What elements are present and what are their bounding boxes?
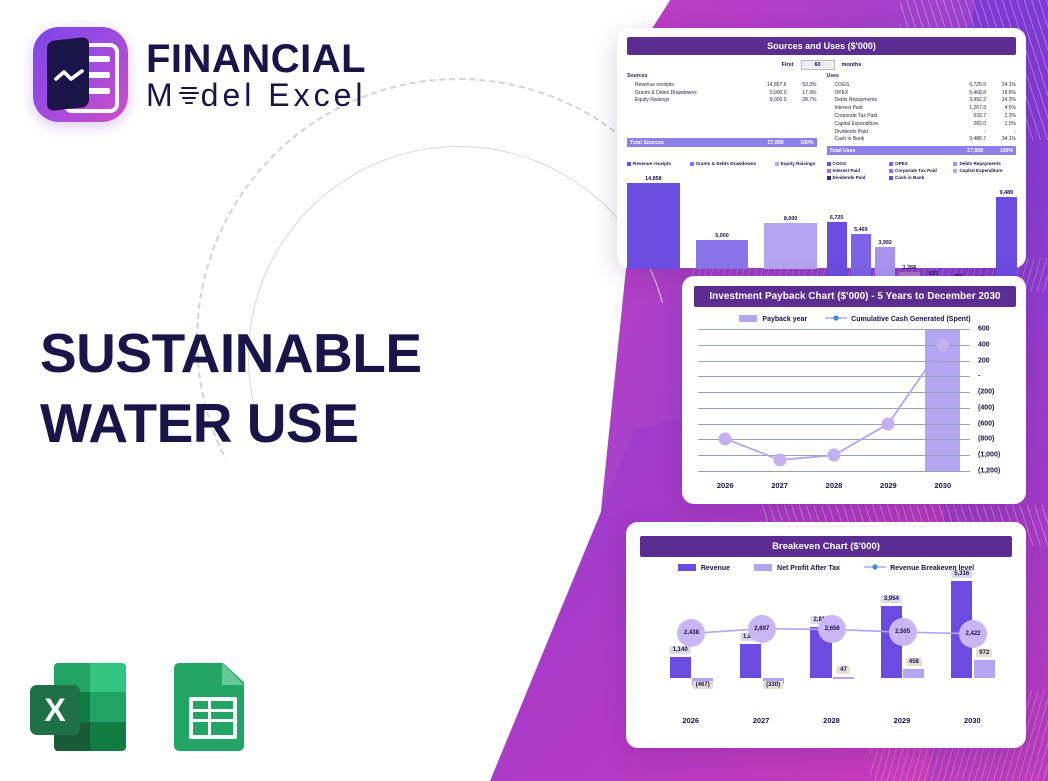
row-value: 632.7 bbox=[942, 113, 986, 119]
x-axis-label: 2029 bbox=[880, 481, 897, 490]
y-axis-tick: (400) bbox=[978, 404, 994, 411]
row-pct: 28.7% bbox=[787, 97, 817, 103]
data-point bbox=[773, 453, 786, 466]
x-axis-label: 2027 bbox=[753, 716, 770, 725]
legend-item-net-profit: Net Profit After Tax bbox=[754, 564, 840, 572]
total-label: Total Sources bbox=[627, 140, 740, 146]
bar bbox=[627, 183, 680, 269]
row-pct: 14.3% bbox=[986, 97, 1016, 103]
breakeven-point: 2,697 bbox=[748, 615, 776, 643]
row-value: 1,267.8 bbox=[942, 105, 986, 111]
table-row: Revenue receipts 14,857.6 53.3% bbox=[627, 81, 817, 89]
bar bbox=[696, 240, 749, 269]
table-row: Grants & Debts Drawdowns 5,000.0 17.9% bbox=[627, 89, 817, 97]
payback-plot-area: 600400200-(200)(400)(600)(800)(1,000)(1,… bbox=[698, 329, 970, 471]
total-value: 27,858 bbox=[939, 148, 983, 154]
sources-uses-title: Sources and Uses ($'000) bbox=[627, 37, 1016, 55]
app-format-icons: X bbox=[30, 663, 244, 751]
row-pct: 1.0% bbox=[986, 121, 1016, 127]
row-pct: - bbox=[986, 129, 1016, 135]
table-row: Capital Expenditure 282.0 1.0% bbox=[827, 120, 1017, 128]
breakeven-point: 2,438 bbox=[677, 619, 705, 647]
breakeven-plot-area: 1,1401,8482,8143,9545,316(467)(330)47458… bbox=[652, 576, 1004, 694]
legend-item-revenue: Revenue bbox=[678, 564, 730, 572]
excel-x-glyph: X bbox=[30, 685, 80, 735]
uses-table: Uses COGS 6,725.5 24.1% OPEX 5,468.8 19.… bbox=[827, 73, 1017, 155]
bar bbox=[764, 223, 817, 269]
logo-mark-icon bbox=[33, 27, 128, 122]
row-label: Dividends Paid bbox=[827, 129, 943, 135]
x-axis-label: 2026 bbox=[682, 716, 699, 725]
brand-name-bottom-post: del Excel bbox=[201, 79, 367, 111]
x-axis-label: 2030 bbox=[964, 716, 981, 725]
table-row: Equity Raisings 8,000.0 28.7% bbox=[627, 97, 817, 105]
uses-header: Uses bbox=[827, 73, 1017, 79]
bar bbox=[996, 197, 1016, 283]
table-row: OPEX 5,468.8 19.6% bbox=[827, 89, 1017, 97]
sources-total-row: Total Sources 27,858 100% bbox=[627, 138, 817, 147]
row-pct: 17.9% bbox=[787, 90, 817, 96]
table-row: Dividends Paid - - bbox=[827, 128, 1017, 136]
table-row: Debts Repayments 3,992.2 14.3% bbox=[827, 97, 1017, 105]
row-label: Revenue receipts bbox=[627, 82, 743, 88]
bar-value-label: 6,725 bbox=[827, 215, 847, 221]
row-label: OPEX bbox=[827, 90, 943, 96]
x-axis-label: 2026 bbox=[717, 481, 734, 490]
row-label: Cash in Bank bbox=[827, 136, 943, 142]
row-value: 9,488.7 bbox=[942, 136, 986, 142]
row-pct: 19.6% bbox=[986, 90, 1016, 96]
legend-item-payback-year: Payback year bbox=[739, 315, 807, 323]
data-point bbox=[719, 432, 732, 445]
page-title-line1: SUSTAINABLE bbox=[40, 318, 422, 388]
brand-name-bottom: M del Excel bbox=[146, 79, 367, 111]
row-pct: 24.1% bbox=[986, 82, 1016, 88]
legend-item: Equity Raisings bbox=[775, 161, 817, 166]
legend-item-cumulative-cash: Cumulative Cash Generated (Spent) bbox=[825, 314, 970, 323]
legend-item: Dividends Paid bbox=[827, 175, 890, 180]
table-row: Cash in Bank 9,488.7 34.1% bbox=[827, 135, 1017, 143]
row-value: 14,857.6 bbox=[743, 82, 787, 88]
row-value: 3,992.2 bbox=[942, 97, 986, 103]
sources-header: Sources bbox=[627, 73, 817, 79]
x-axis-label: 2029 bbox=[894, 716, 911, 725]
period-months-input[interactable]: 60 bbox=[801, 60, 835, 70]
x-axis-label: 2028 bbox=[826, 481, 843, 490]
brand-wordmark: FINANCIAL M del Excel bbox=[146, 39, 367, 111]
row-label: Interest Paid bbox=[827, 105, 943, 111]
sources-chart-legend: Revenue receipts Grants & Debts Drawdown… bbox=[627, 160, 817, 167]
legend-item: Interest Paid bbox=[827, 168, 890, 173]
y-axis-tick: (200) bbox=[978, 389, 994, 396]
page-title: SUSTAINABLE WATER USE bbox=[40, 318, 422, 459]
bar-value-label: 14,858 bbox=[627, 176, 680, 182]
table-row: Corporate Tax Paid 632.7 2.3% bbox=[827, 112, 1017, 120]
x-axis-label: 2030 bbox=[934, 481, 951, 490]
breakeven-chart-title: Breakeven Chart ($'000) bbox=[640, 536, 1012, 557]
brand-name-top: FINANCIAL bbox=[146, 39, 367, 79]
gridline bbox=[698, 471, 970, 472]
y-axis-tick: - bbox=[978, 373, 980, 380]
legend-item: Capital Expenditure bbox=[953, 168, 1016, 173]
period-suffix-label: months bbox=[842, 62, 862, 68]
y-axis-tick: (600) bbox=[978, 420, 994, 427]
bar bbox=[827, 222, 847, 283]
bar-value-label: 3,992 bbox=[875, 240, 895, 246]
row-pct: 34.1% bbox=[986, 136, 1016, 142]
row-label: Grants & Debts Drawdowns bbox=[627, 90, 743, 96]
row-label: Capital Expenditure bbox=[827, 121, 943, 127]
row-value: 8,000.0 bbox=[743, 97, 787, 103]
total-pct: 100% bbox=[983, 148, 1016, 154]
row-label: Corporate Tax Paid bbox=[827, 113, 943, 119]
y-axis-tick: 200 bbox=[978, 357, 990, 364]
bar-value-label: 5,469 bbox=[851, 227, 871, 233]
total-label: Total Uses bbox=[827, 148, 940, 154]
data-point bbox=[936, 338, 949, 351]
sources-bar-chart: 14,8585,0008,000 bbox=[627, 169, 817, 269]
sources-table: Sources Revenue receipts 14,857.6 53.3% … bbox=[627, 73, 817, 155]
legend-item: Corporate Tax Paid bbox=[889, 168, 953, 173]
table-row: Interest Paid 1,267.8 4.6% bbox=[827, 104, 1017, 112]
x-axis-label: 2027 bbox=[771, 481, 788, 490]
logo-o-glyph-icon bbox=[178, 83, 200, 107]
breakeven-point: 2,656 bbox=[818, 615, 846, 643]
y-axis-tick: 400 bbox=[978, 341, 990, 348]
data-point bbox=[828, 449, 841, 462]
period-prefix-label: First bbox=[782, 62, 794, 68]
legend-item: OPEX bbox=[889, 161, 953, 166]
brand-name-bottom-pre: M bbox=[146, 79, 177, 111]
brand-logo: FINANCIAL M del Excel bbox=[33, 27, 367, 122]
y-axis-tick: (1,200) bbox=[978, 468, 1000, 475]
uses-chart-legend: COGS OPEX Debts Repayments Interest Paid… bbox=[827, 160, 1017, 181]
bar-value-label: 1,268 bbox=[899, 265, 919, 271]
poster-canvas: FINANCIAL M del Excel SUSTAINABLE WATER … bbox=[0, 0, 1048, 781]
row-value: 282.0 bbox=[942, 121, 986, 127]
bar-value-label: 5,000 bbox=[696, 233, 749, 239]
breakeven-point: 2,505 bbox=[889, 618, 917, 646]
row-pct: 53.3% bbox=[787, 82, 817, 88]
google-sheets-icon bbox=[174, 663, 244, 751]
breakeven-point: 2,422 bbox=[959, 620, 987, 648]
x-axis-label: 2028 bbox=[823, 716, 840, 725]
payback-chart-title: Investment Payback Chart ($'000) - 5 Yea… bbox=[694, 286, 1016, 307]
y-axis-tick: 600 bbox=[978, 326, 990, 333]
row-pct: 4.6% bbox=[986, 105, 1016, 111]
y-axis-tick: (1,000) bbox=[978, 452, 1000, 459]
legend-item: Cash in Bank bbox=[889, 175, 953, 180]
total-value: 27,858 bbox=[740, 140, 784, 146]
total-pct: 100% bbox=[784, 140, 817, 146]
bar-value-label: 8,000 bbox=[764, 216, 817, 222]
row-value: 5,468.8 bbox=[942, 90, 986, 96]
row-value: 6,725.5 bbox=[942, 82, 986, 88]
page-title-line2: WATER USE bbox=[40, 388, 422, 458]
row-value: - bbox=[942, 129, 986, 135]
period-selector-row: First 60 months bbox=[627, 60, 1016, 70]
bar-value-label: 9,489 bbox=[996, 190, 1016, 196]
row-label: Debts Repayments bbox=[827, 97, 943, 103]
legend-item: COGS bbox=[827, 161, 890, 166]
row-value: 5,000.0 bbox=[743, 90, 787, 96]
data-point bbox=[882, 417, 895, 430]
legend-item: Grants & Debts Drawdowns bbox=[690, 161, 775, 166]
row-label: Equity Raisings bbox=[627, 97, 743, 103]
investment-payback-card: Investment Payback Chart ($'000) - 5 Yea… bbox=[682, 276, 1026, 504]
uses-total-row: Total Uses 27,858 100% bbox=[827, 146, 1017, 155]
uses-bar-chart: 6,7255,4693,9921,26863328209,489 bbox=[827, 183, 1017, 283]
microsoft-excel-icon: X bbox=[30, 663, 126, 751]
table-row: COGS 6,725.5 24.1% bbox=[827, 81, 1017, 89]
breakeven-card: Breakeven Chart ($'000) Revenue Net Prof… bbox=[626, 522, 1026, 748]
legend-item: Revenue receipts bbox=[627, 161, 690, 166]
logo-zigzag-icon bbox=[54, 69, 84, 83]
payback-chart-legend: Payback year Cumulative Cash Generated (… bbox=[694, 314, 1016, 323]
row-label: COGS bbox=[827, 82, 943, 88]
row-pct: 2.3% bbox=[986, 113, 1016, 119]
legend-item: Debts Repayments bbox=[953, 161, 1016, 166]
y-axis-tick: (800) bbox=[978, 436, 994, 443]
sources-and-uses-card: Sources and Uses ($'000) First 60 months… bbox=[617, 28, 1026, 268]
